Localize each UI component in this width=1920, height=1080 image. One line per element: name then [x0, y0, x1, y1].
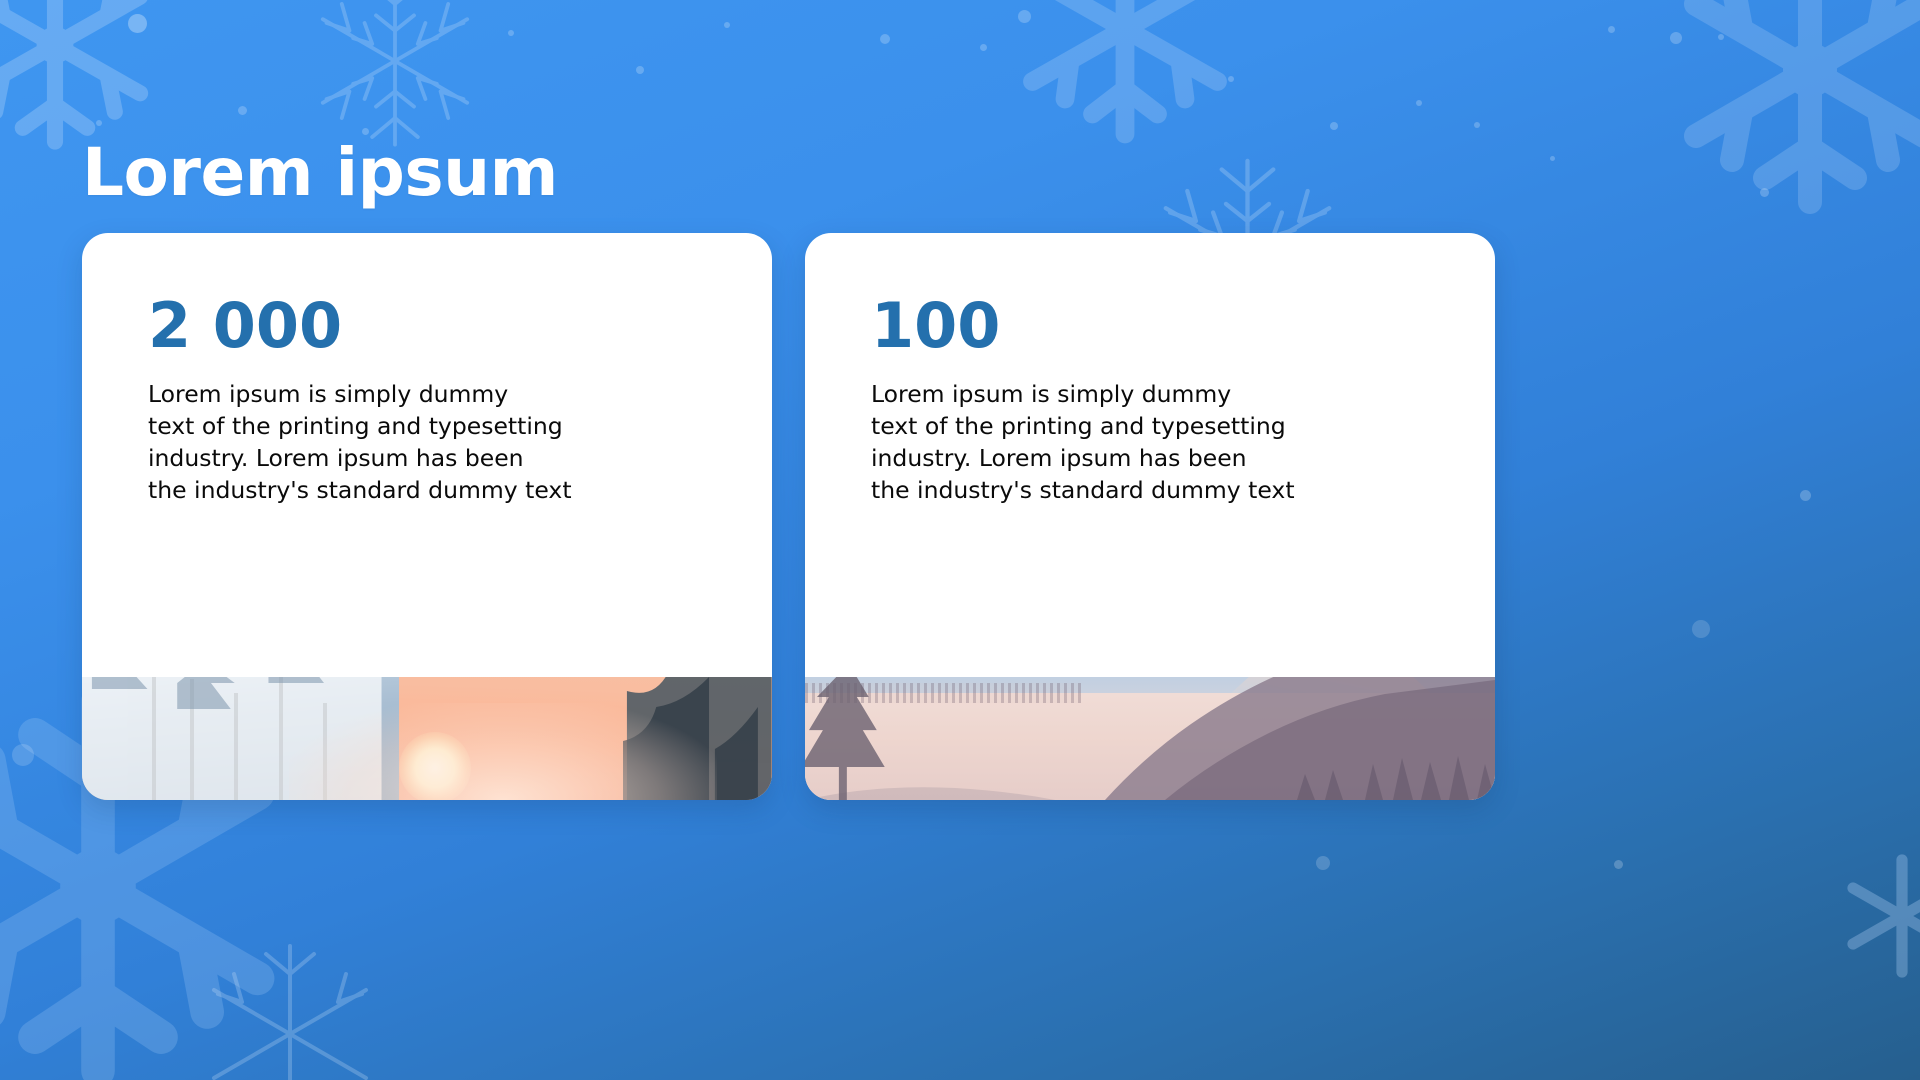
snow-dot: [1608, 26, 1615, 33]
torn-paper-edge: [82, 557, 772, 677]
stat-description: Lorem ipsum is simply dummy text of the …: [148, 379, 742, 507]
snow-dot: [880, 34, 890, 44]
snow-dot: [1330, 122, 1338, 130]
snow-dot: [1692, 620, 1710, 638]
snow-dot: [128, 14, 147, 33]
snow-dot: [1228, 76, 1234, 82]
snowflake-icon: [1000, 0, 1250, 154]
snow-dot: [508, 30, 514, 36]
snowflake-icon: [300, 0, 490, 156]
snow-dot: [1760, 188, 1769, 197]
snowflake-icon: [1660, 0, 1920, 220]
snowy-mountain-photo: [805, 557, 1495, 800]
stat-card-left[interactable]: 2 000 Lorem ipsum is simply dummy text o…: [82, 233, 772, 800]
snowflake-icon: [190, 934, 390, 1080]
snow-dot: [1550, 156, 1555, 161]
foreground-tree: [805, 664, 895, 800]
stat-card-right[interactable]: 100 Lorem ipsum is simply dummy text of …: [805, 233, 1495, 800]
snow-dot: [1670, 32, 1682, 44]
stat-number: 100: [871, 295, 1465, 357]
snow-dot: [1018, 10, 1031, 23]
winter-forest-sunset-photo: [82, 557, 772, 800]
torn-paper-edge: [805, 557, 1495, 677]
snowflake-icon: [1832, 846, 1920, 986]
slide-canvas: Lorem ipsum 2 000 Lorem ipsum is simply …: [0, 0, 1920, 1080]
card-text-block: 2 000 Lorem ipsum is simply dummy text o…: [148, 295, 742, 507]
snow-dot: [1718, 34, 1724, 40]
snow-dot: [1614, 860, 1623, 869]
card-text-block: 100 Lorem ipsum is simply dummy text of …: [871, 295, 1465, 507]
page-title: Lorem ipsum: [82, 140, 558, 206]
snow-dot: [96, 120, 102, 126]
snow-dot: [1800, 490, 1811, 501]
snow-dot: [238, 106, 247, 115]
stat-description: Lorem ipsum is simply dummy text of the …: [871, 379, 1465, 507]
stat-number: 2 000: [148, 295, 742, 357]
snow-dot: [1474, 122, 1480, 128]
snow-dot: [636, 66, 644, 74]
ground-mist: [289, 703, 717, 800]
snow-dot: [980, 44, 987, 51]
snow-dot: [12, 744, 34, 766]
snow-dot: [1416, 100, 1422, 106]
snow-dot: [1316, 856, 1330, 870]
snow-dot: [724, 22, 730, 28]
